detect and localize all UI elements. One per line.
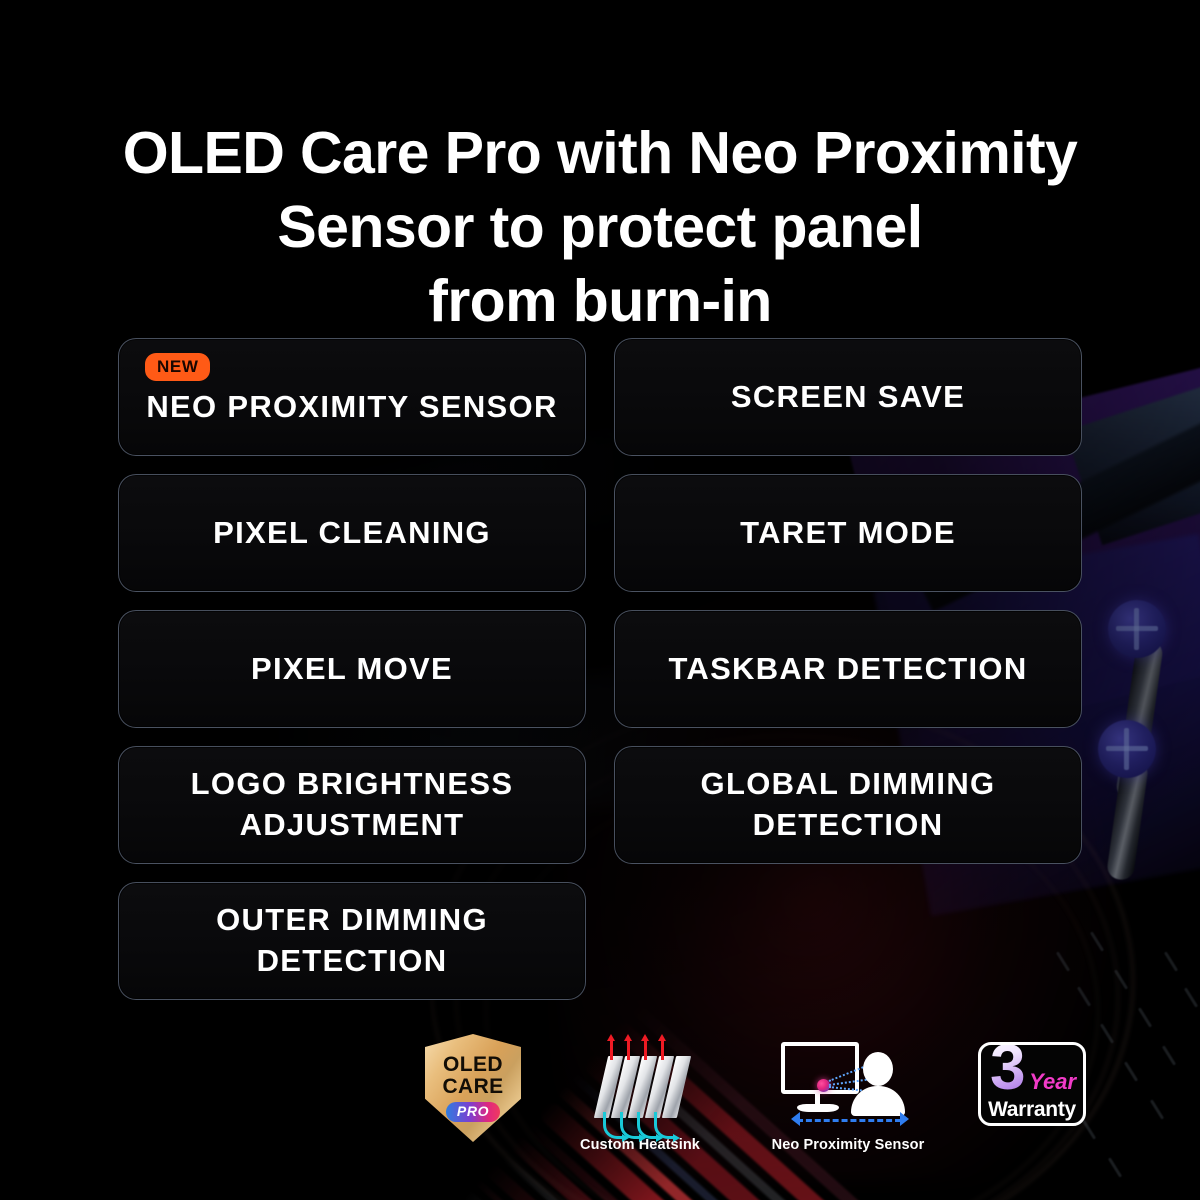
feature-card[interactable]: PIXEL CLEANING	[118, 474, 586, 592]
distance-arrow-right	[900, 1112, 909, 1126]
shield-icon: OLED CARE PRO	[425, 1034, 521, 1142]
headline-line-3: from burn-in	[28, 264, 1172, 338]
oled-care-line-2: CARE	[442, 1076, 503, 1097]
heat-up-arrow-icon	[627, 1038, 630, 1060]
feature-card[interactable]: GLOBAL DIMMING DETECTION	[614, 746, 1082, 864]
feature-grid: NEWNEO PROXIMITY SENSORPIXEL CLEANINGPIX…	[118, 338, 1082, 1018]
warranty-box-icon: 3 Year Warranty	[978, 1042, 1086, 1126]
feature-column-right: SCREEN SAVETARET MODETASKBAR DETECTIONGL…	[614, 338, 1082, 1018]
warranty-number: 3	[990, 1042, 1026, 1099]
poster-content: OLED Care Pro with Neo Proximity Sensor …	[0, 0, 1200, 1200]
heat-up-arrow-icon	[661, 1038, 664, 1060]
new-badge: NEW	[145, 353, 210, 381]
pro-badge: PRO	[446, 1102, 500, 1122]
feature-card-label: SCREEN SAVE	[717, 377, 979, 418]
feature-card[interactable]: SCREEN SAVE	[614, 338, 1082, 456]
feature-card[interactable]: PIXEL MOVE	[118, 610, 586, 728]
warranty-word-label: Warranty	[981, 1099, 1083, 1120]
feature-card-label: PIXEL MOVE	[237, 649, 467, 690]
feature-card[interactable]: TASKBAR DETECTION	[614, 610, 1082, 728]
feature-card[interactable]: NEWNEO PROXIMITY SENSOR	[118, 338, 586, 456]
person-head-icon	[863, 1052, 893, 1086]
heat-up-arrow-icon	[610, 1038, 613, 1060]
page-title: OLED Care Pro with Neo Proximity Sensor …	[0, 116, 1200, 339]
warranty-badge: 3 Year Warranty	[976, 1042, 1088, 1126]
feature-card-label: GLOBAL DIMMING DETECTION	[687, 764, 1010, 846]
feature-column-left: NEWNEO PROXIMITY SENSORPIXEL CLEANINGPIX…	[118, 338, 586, 1018]
neo-proximity-sensor-badge: Neo Proximity Sensor	[768, 1036, 928, 1153]
feature-card-label: OUTER DIMMING DETECTION	[202, 900, 502, 982]
feature-card[interactable]: LOGO BRIGHTNESS ADJUSTMENT	[118, 746, 586, 864]
oled-care-line-1: OLED	[443, 1054, 503, 1075]
feature-card-label: TASKBAR DETECTION	[654, 649, 1041, 690]
warranty-year-label: Year	[1029, 1071, 1076, 1093]
feature-card-label: PIXEL CLEANING	[199, 513, 505, 554]
distance-indicator-line	[797, 1119, 901, 1122]
feature-card-label: NEO PROXIMITY SENSOR	[119, 387, 585, 428]
headline-line-2: Sensor to protect panel	[28, 190, 1172, 264]
monitor-base	[797, 1104, 839, 1112]
proximity-sensor-icon	[773, 1036, 923, 1130]
feature-card-label: TARET MODE	[726, 513, 970, 554]
custom-heatsink-badge: Custom Heatsink	[575, 1038, 705, 1153]
feature-card[interactable]: OUTER DIMMING DETECTION	[118, 882, 586, 1000]
headline-line-1: OLED Care Pro with Neo Proximity	[28, 116, 1172, 190]
feature-card-label: LOGO BRIGHTNESS ADJUSTMENT	[177, 764, 528, 846]
footer-badges: OLED CARE PRO Custom Heatsink	[0, 1032, 1200, 1172]
heat-up-arrow-icon	[644, 1038, 647, 1060]
oled-care-pro-badge: OLED CARE PRO	[421, 1034, 525, 1142]
feature-card[interactable]: TARET MODE	[614, 474, 1082, 592]
heatsink-icon	[585, 1038, 695, 1130]
distance-arrow-left	[791, 1112, 800, 1126]
poster-canvas: OLED Care Pro with Neo Proximity Sensor …	[0, 0, 1200, 1200]
proximity-caption: Neo Proximity Sensor	[768, 1137, 928, 1153]
